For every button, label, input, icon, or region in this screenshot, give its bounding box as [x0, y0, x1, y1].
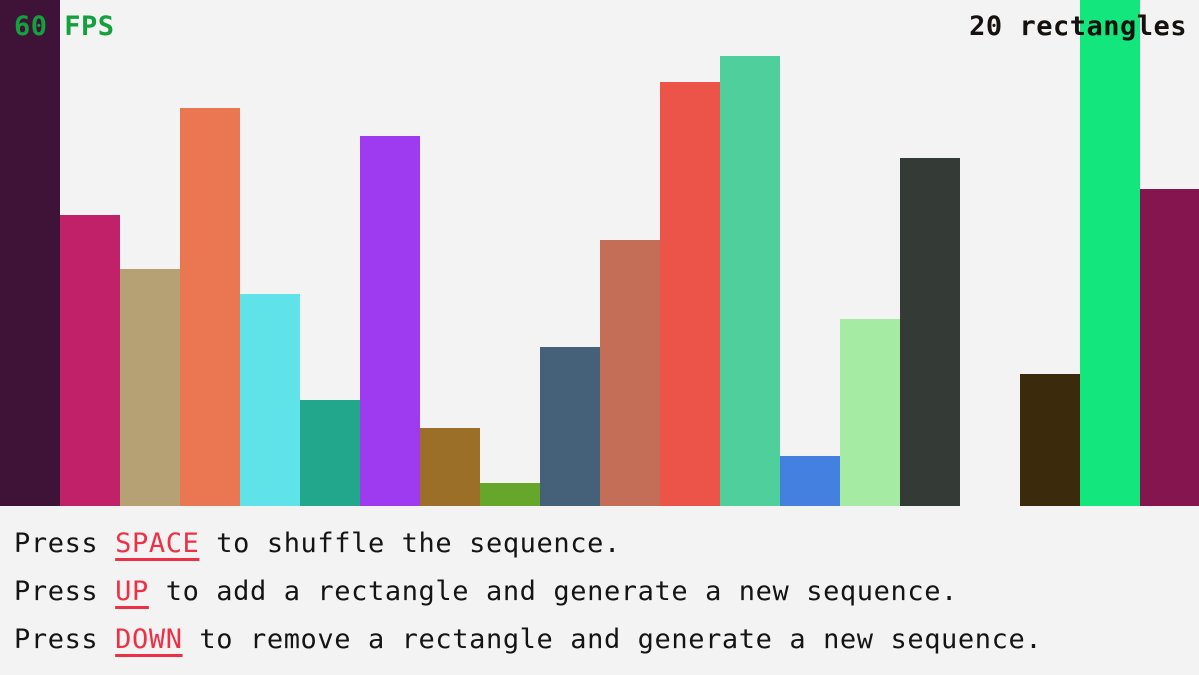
bar-4 — [180, 108, 240, 506]
bar-8 — [420, 428, 480, 506]
bar-5 — [240, 294, 300, 506]
instruction-prefix: Press — [14, 624, 115, 655]
bar-18 — [1020, 374, 1080, 506]
instruction-line-1: Press SPACE to shuffle the sequence. — [14, 520, 1199, 568]
bar-10 — [540, 347, 600, 506]
bar-12 — [660, 82, 720, 506]
instruction-line-3: Press DOWN to remove a rectangle and gen… — [14, 616, 1199, 664]
bar-6 — [300, 400, 360, 506]
key-badge-up[interactable]: UP — [115, 576, 149, 607]
bar-14 — [780, 456, 840, 506]
bar-19 — [1080, 0, 1140, 506]
instruction-suffix: to add a rectangle and generate a new se… — [149, 576, 958, 607]
rectangle-count-label: 20 rectangles — [969, 13, 1187, 40]
bar-15 — [840, 319, 900, 506]
key-badge-space[interactable]: SPACE — [115, 528, 199, 559]
bar-3 — [120, 269, 180, 506]
instructions-panel: Press SPACE to shuffle the sequence.Pres… — [0, 506, 1199, 675]
bar-1 — [0, 0, 60, 506]
instruction-prefix: Press — [14, 528, 115, 559]
app-canvas: 60 FPS 20 rectangles Press SPACE to shuf… — [0, 0, 1199, 675]
bar-20 — [1140, 189, 1199, 506]
instruction-line-2: Press UP to add a rectangle and generate… — [14, 568, 1199, 616]
bar-2 — [60, 215, 120, 506]
bar-7 — [360, 136, 420, 506]
instruction-suffix: to shuffle the sequence. — [199, 528, 620, 559]
key-badge-down[interactable]: DOWN — [115, 624, 182, 655]
instruction-prefix: Press — [14, 576, 115, 607]
bar-16 — [900, 158, 960, 506]
bar-chart — [0, 0, 1199, 506]
bar-11 — [600, 240, 660, 506]
instruction-suffix: to remove a rectangle and generate a new… — [183, 624, 1043, 655]
bar-13 — [720, 56, 780, 506]
bar-9 — [480, 483, 540, 506]
fps-counter: 60 FPS — [14, 13, 115, 40]
